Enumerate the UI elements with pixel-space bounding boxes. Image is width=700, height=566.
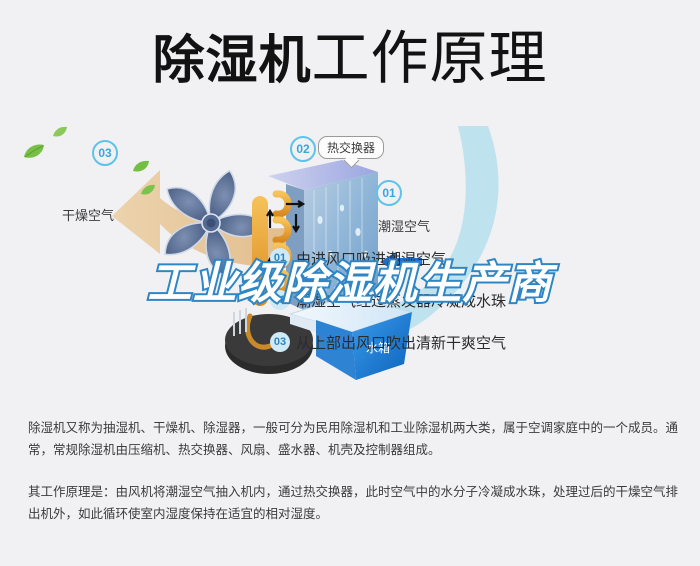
- watermark-text: 工业级除湿机生产商: [0, 262, 700, 306]
- page-title-part2: 工作原理: [312, 26, 548, 91]
- badge-03-dry-air: 03: [92, 140, 118, 166]
- label-humid-air: 潮湿空气: [378, 216, 430, 235]
- badge-02-heat-exchanger: 02: [290, 136, 316, 162]
- body-paragraph-1-container: 除湿机又称为抽湿机、干燥机、除湿器，一般可分为民用除湿机和工业除湿机两大类，属于…: [28, 418, 678, 466]
- dehumidifier-infographic: 除湿机工作原理: [0, 0, 700, 566]
- step-text: 从上部出风口吹出清新干爽空气: [296, 332, 506, 353]
- label-dry-air: 干燥空气: [62, 205, 114, 224]
- body-paragraph-1: 除湿机又称为抽湿机、干燥机、除湿器，一般可分为民用除湿机和工业除湿机两大类，属于…: [28, 418, 678, 462]
- label-heat-exchanger: 热交换器: [318, 136, 384, 159]
- body-paragraph-2-container: 其工作原理是：由风机将潮湿空气抽入机内，通过热交换器，此时空气中的水分子冷凝成水…: [28, 482, 678, 530]
- leaf-icon-1: [22, 143, 46, 161]
- page-title: 除湿机工作原理: [0, 30, 700, 88]
- badge-01-humid-air: 01: [376, 180, 402, 206]
- leaf-icon-3: [132, 160, 150, 174]
- page-title-part1: 除湿机: [152, 32, 311, 90]
- step-number: 03: [270, 332, 290, 352]
- leaf-icon-2: [52, 126, 68, 139]
- list-item: 03 从上部出风口吹出清新干爽空气: [270, 332, 570, 352]
- body-paragraph-2: 其工作原理是：由风机将潮湿空气抽入机内，通过热交换器，此时空气中的水分子冷凝成水…: [28, 482, 678, 526]
